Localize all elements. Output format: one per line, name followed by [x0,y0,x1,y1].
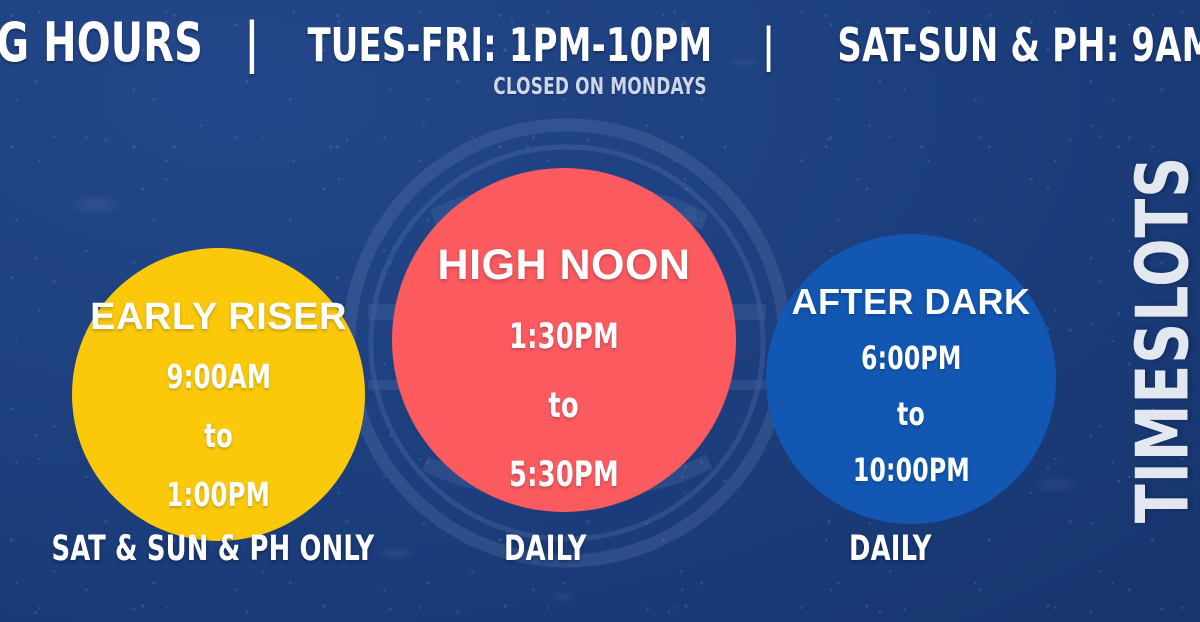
timeslot-end-high-noon: 5:30PM [509,457,619,494]
timeslot-circle-after-dark: AFTER DARK 6:00PM to 10:00PM [766,234,1056,524]
timeslot-name-high-noon: HIGH NOON [438,244,691,287]
timeslot-end-after-dark: 10:00PM [852,454,969,488]
timeslot-end-early-riser: 1:00PM [167,478,271,513]
availability-high-noon: DAILY [504,532,587,567]
side-label-timeslots: TIMESLOTS [1124,131,1200,548]
header: OPENING HOURS | TUES-FRI: 1PM-10PM | SAT… [0,0,1200,99]
header-hours-line: OPENING HOURS | TUES-FRI: 1PM-10PM | SAT… [0,0,1200,70]
timeslot-start-after-dark: 6:00PM [861,342,962,376]
timeslot-name-early-riser: EARLY RISER [90,298,347,336]
weekend-hours: SAT-SUN & PH: 9AM - 10PM [837,22,1200,68]
weekday-hours: TUES-FRI: 1PM-10PM [307,22,712,68]
header-pipe-divider: | [245,16,260,70]
availability-early-riser: SAT & SUN & PH ONLY [51,532,374,567]
timeslot-connector-after-dark: to [897,398,925,432]
timeslot-name-after-dark: AFTER DARK [792,284,1031,320]
timeslot-connector-early-riser: to [204,419,233,454]
timeslot-circle-early-riser: EARLY RISER 9:00AM to 1:00PM [72,248,365,541]
opening-hours-poster: D S OPENING HOURS | TUES-FRI: 1PM-10PM |… [0,0,1200,622]
header-separator: | [762,22,775,68]
closed-note: CLOSED ON MONDAYS [108,76,1092,99]
availability-after-dark: DAILY [849,532,932,567]
timeslot-circle-high-noon: HIGH NOON 1:30PM to 5:30PM [392,168,736,512]
timeslot-connector-high-noon: to [549,388,579,425]
page-title: OPENING HOURS [0,16,203,70]
timeslot-start-early-riser: 9:00AM [166,360,271,395]
timeslot-start-high-noon: 1:30PM [509,319,619,356]
side-label-timeslots-text: TIMESLOTS [1127,155,1199,522]
